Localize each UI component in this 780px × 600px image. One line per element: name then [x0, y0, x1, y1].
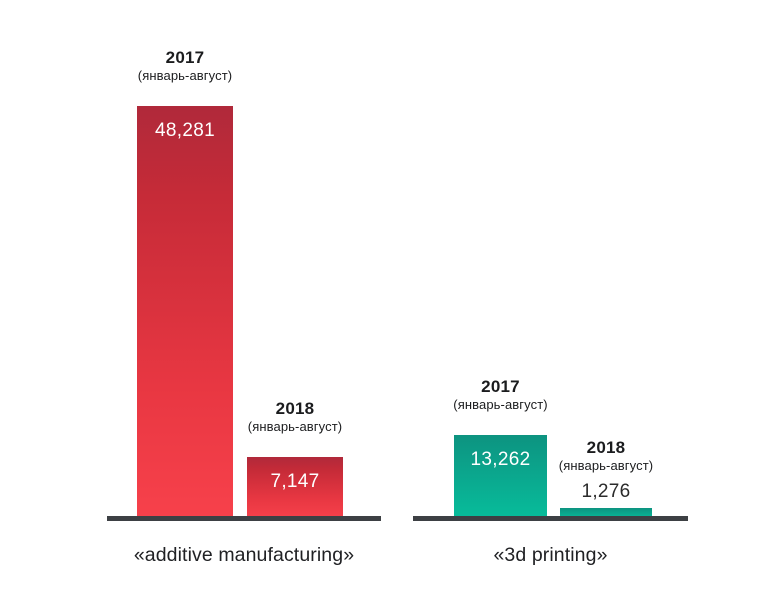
bar-rect-3dprint-2017[interactable]: 13,262 [454, 435, 547, 519]
bar-period-label: (январь-август) [248, 420, 342, 435]
bar-chart: 2017 (январь-август) 48,281 2018 (январь… [0, 0, 780, 600]
bar-year-label: 2017 [453, 377, 547, 396]
bar-year-label: 2017 [138, 48, 232, 67]
bar-header-additive-2017: 2017 (январь-август) [138, 48, 232, 84]
axis-baseline-3dprint [413, 516, 688, 521]
bar-value-label: 7,147 [247, 471, 343, 493]
bar-year-label: 2018 [559, 438, 653, 457]
bar-header-additive-2018: 2018 (январь-август) [248, 399, 342, 435]
bar-header-3dprint-2018: 2018 (январь-август) [559, 438, 653, 474]
bar-group-additive-manufacturing: 2017 (январь-август) 48,281 2018 (январь… [107, 0, 381, 600]
bar-rect-additive-2018[interactable]: 7,147 [247, 457, 343, 519]
category-label-3d-printing: «3d printing» [413, 544, 688, 567]
bar-header-3dprint-2017: 2017 (январь-август) [453, 377, 547, 413]
bar-rect-additive-2017[interactable]: 48,281 [137, 106, 233, 519]
axis-baseline-additive [107, 516, 381, 521]
bar-year-label: 2018 [248, 399, 342, 418]
bar-value-label: 48,281 [137, 120, 233, 142]
bar-group-3d-printing: 2017 (январь-август) 13,262 2018 (январь… [413, 0, 688, 600]
bar-period-label: (январь-август) [453, 398, 547, 413]
bar-period-label: (январь-август) [138, 69, 232, 84]
category-label-additive-manufacturing: «additive manufacturing» [107, 544, 381, 567]
bar-value-label: 13,262 [454, 449, 547, 471]
bar-value-label: 1,276 [560, 481, 652, 503]
bar-period-label: (январь-август) [559, 459, 653, 474]
